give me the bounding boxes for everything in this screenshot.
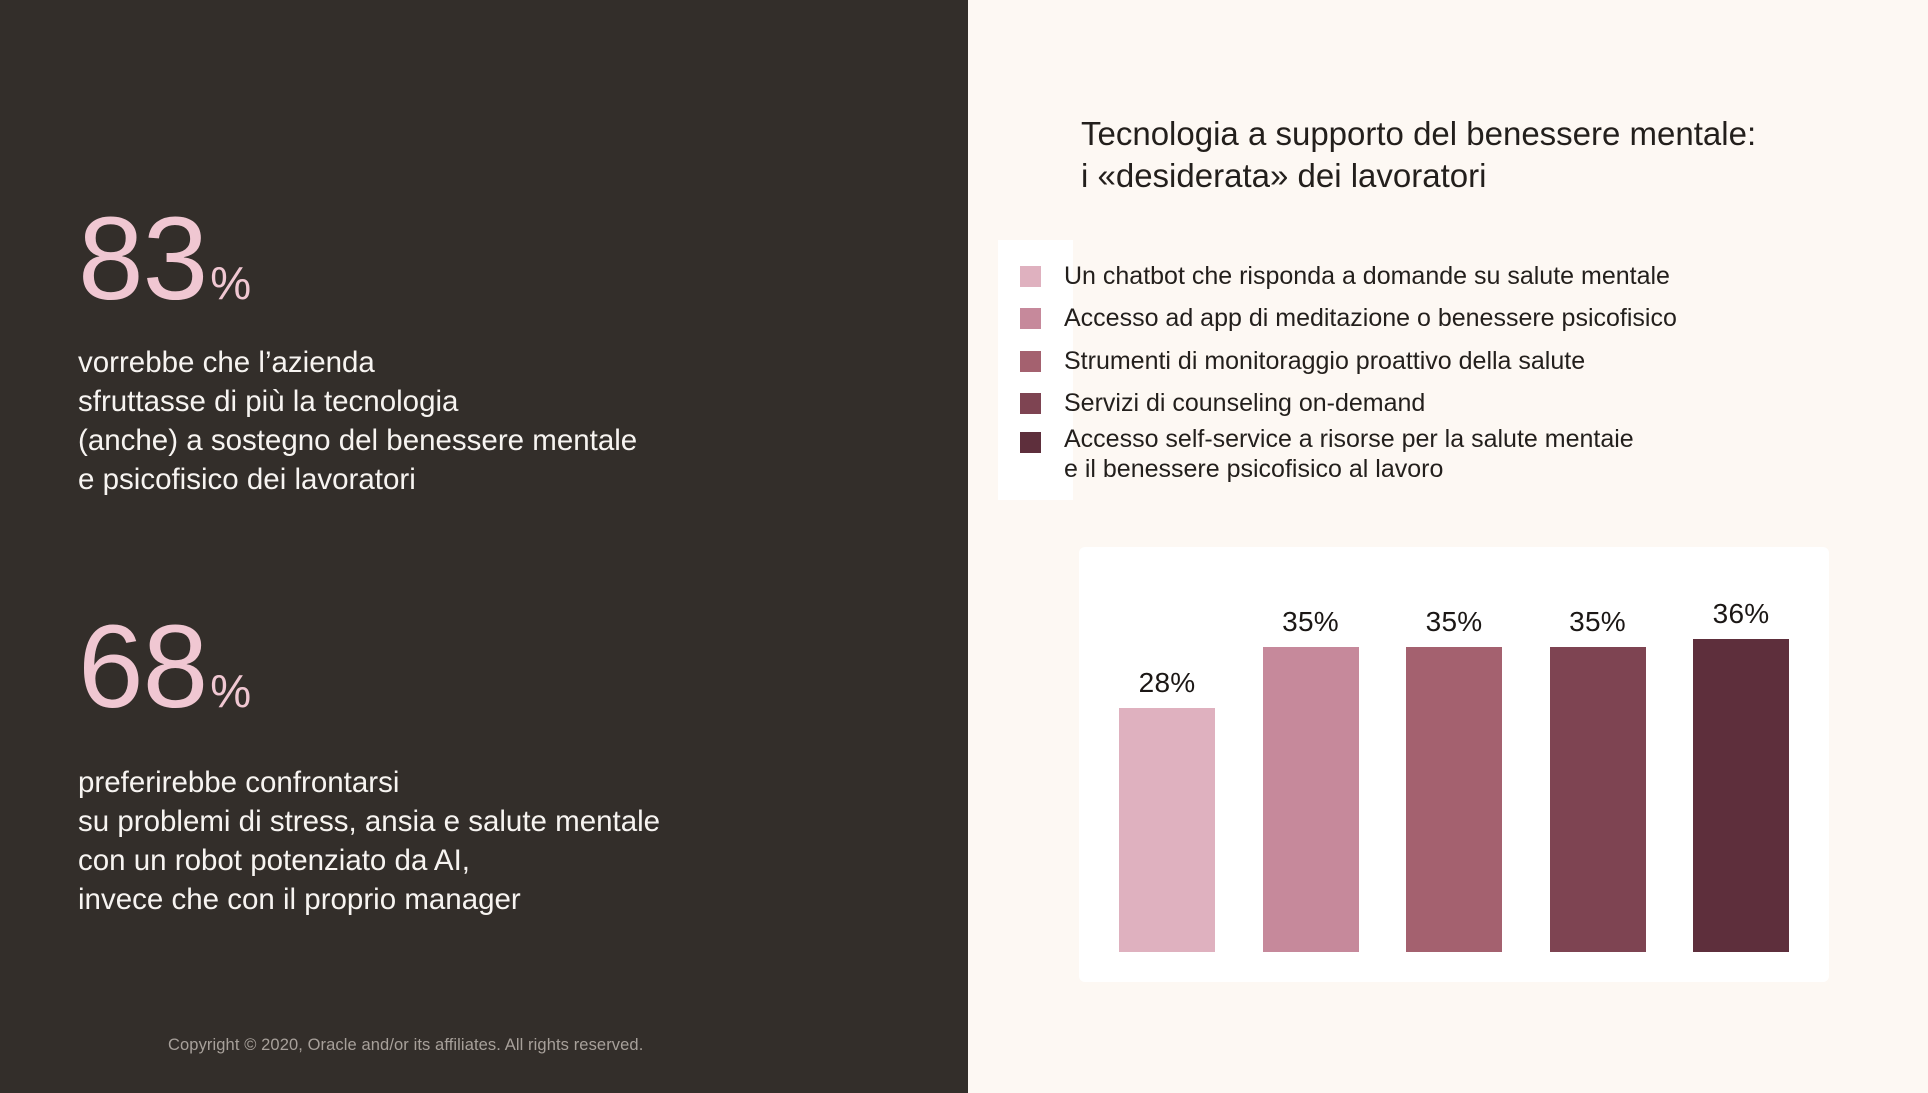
bar-value-label: 28% bbox=[1139, 667, 1196, 699]
chart-title: Tecnologia a supporto del benessere ment… bbox=[1081, 113, 1911, 197]
bar-column: 35% bbox=[1406, 569, 1502, 952]
stat-description: vorrebbe che l’azienda sfruttasse di più… bbox=[78, 344, 637, 500]
stat-block-83: 83 % vorrebbe che l’azienda sfruttasse d… bbox=[78, 200, 637, 500]
bar-column: 35% bbox=[1550, 569, 1646, 952]
stat-percent-symbol: % bbox=[210, 260, 251, 306]
legend-swatch-icon bbox=[1020, 393, 1041, 414]
legend-item: Accesso self-service a risorse per la sa… bbox=[1020, 425, 1900, 484]
bar-chart-card: 28% 35% 35% 35% bbox=[1079, 547, 1829, 982]
bar-value-label: 35% bbox=[1282, 606, 1339, 638]
stat-block-68: 68 % preferirebbe confrontarsi su proble… bbox=[78, 608, 660, 920]
bar-value-label: 36% bbox=[1713, 598, 1770, 630]
stat-number-value: 83 bbox=[78, 200, 207, 318]
bar-chart-plot-area: 28% 35% 35% 35% bbox=[1119, 569, 1789, 952]
bar-rect bbox=[1406, 647, 1502, 952]
legend-item-label: Un chatbot che risponda a domande su sal… bbox=[1064, 262, 1670, 292]
right-light-panel: Tecnologia a supporto del benessere ment… bbox=[968, 0, 1928, 1093]
bar-rect bbox=[1119, 708, 1215, 952]
stat-number-row: 83 % bbox=[78, 200, 637, 318]
bar-column: 35% bbox=[1263, 569, 1359, 952]
stat-number-row: 68 % bbox=[78, 608, 660, 726]
stat-description: preferirebbe confrontarsi su problemi di… bbox=[78, 764, 660, 920]
legend-swatch-icon bbox=[1020, 351, 1041, 372]
bar-value-label: 35% bbox=[1426, 606, 1483, 638]
legend-item: Strumenti di monitoraggio proattivo dell… bbox=[1020, 340, 1900, 383]
bar-column: 36% bbox=[1693, 569, 1789, 952]
legend-swatch-icon bbox=[1020, 432, 1041, 453]
stat-number-value: 68 bbox=[78, 608, 207, 726]
legend-item: Accesso ad app di meditazione o benesser… bbox=[1020, 298, 1900, 341]
copyright-notice: Copyright © 2020, Oracle and/or its affi… bbox=[168, 1036, 643, 1055]
chart-legend: Un chatbot che risponda a domande su sal… bbox=[1020, 255, 1900, 484]
bar-rect bbox=[1550, 647, 1646, 952]
left-dark-panel: 83 % vorrebbe che l’azienda sfruttasse d… bbox=[0, 0, 968, 1093]
bar-series: 28% 35% 35% 35% bbox=[1119, 569, 1789, 952]
legend-item: Un chatbot che risponda a domande su sal… bbox=[1020, 255, 1900, 298]
legend-swatch-icon bbox=[1020, 308, 1041, 329]
legend-item-label: Accesso self-service a risorse per la sa… bbox=[1064, 425, 1634, 484]
slide-root: 83 % vorrebbe che l’azienda sfruttasse d… bbox=[0, 0, 1928, 1093]
bar-column: 28% bbox=[1119, 569, 1215, 952]
bar-rect bbox=[1263, 647, 1359, 952]
bar-rect bbox=[1693, 639, 1789, 952]
legend-item-label: Servizi di counseling on-demand bbox=[1064, 389, 1425, 419]
bar-value-label: 35% bbox=[1569, 606, 1626, 638]
legend-item-label: Accesso ad app di meditazione o benesser… bbox=[1064, 304, 1677, 334]
legend-swatch-icon bbox=[1020, 266, 1041, 287]
legend-item: Servizi di counseling on-demand bbox=[1020, 383, 1900, 426]
legend-item-label: Strumenti di monitoraggio proattivo dell… bbox=[1064, 347, 1585, 377]
stat-percent-symbol: % bbox=[210, 668, 251, 714]
